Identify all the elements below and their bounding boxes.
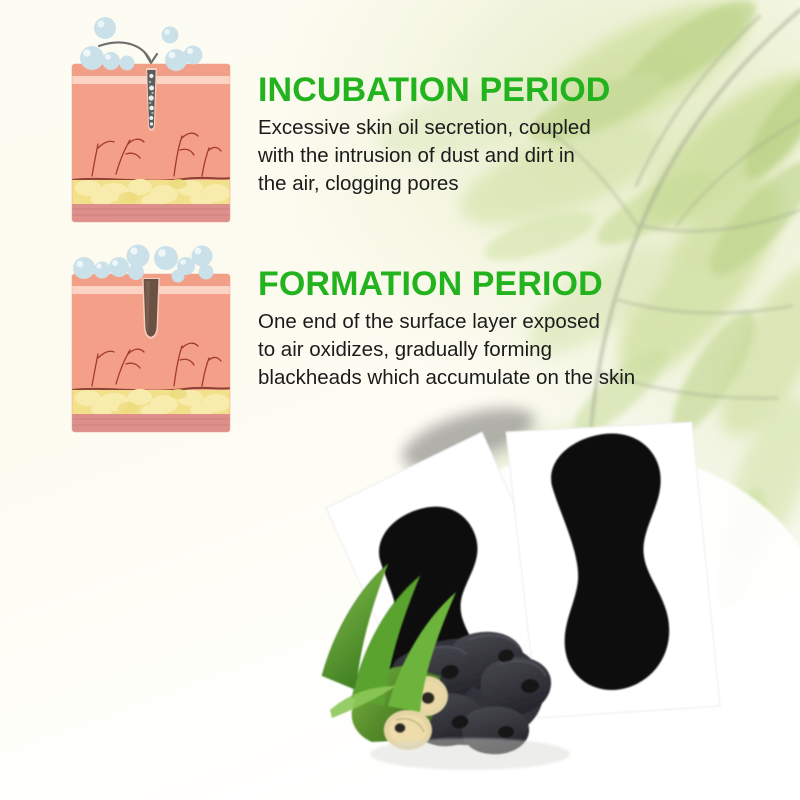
formation-body-line-1: One end of the surface layer exposed — [258, 308, 698, 336]
incubation-body-line-1: Excessive skin oil secretion, coupled — [258, 114, 658, 142]
formation-heading: FORMATION PERIOD — [258, 266, 698, 302]
formation-text-block: FORMATION PERIOD One end of the surface … — [258, 266, 698, 392]
skin-cross-section-blackhead-plug-diagram — [66, 234, 236, 438]
oil-bubbles-upper — [94, 17, 179, 44]
formation-body-line-2: to air oxidizes, gradually forming — [258, 336, 698, 364]
incubation-body: Excessive skin oil secretion, coupled wi… — [258, 114, 658, 198]
oxidized-blackhead-plug — [142, 278, 160, 339]
incubation-body-line-2: with the intrusion of dust and dirt in — [258, 142, 658, 170]
product-infographic-poster: INCUBATION PERIOD Excessive skin oil sec… — [0, 0, 800, 800]
formation-body-line-3: blackheads which accumulate on the skin — [258, 364, 698, 392]
incubation-body-line-3: the air, clogging pores — [258, 170, 658, 198]
charcoal-nose-strips-photo — [300, 410, 800, 800]
incubation-text-block: INCUBATION PERIOD Excessive skin oil sec… — [258, 72, 658, 198]
skin-cross-section-clogged-pore-diagram — [66, 8, 236, 230]
incubation-heading: INCUBATION PERIOD — [258, 72, 658, 108]
formation-body: One end of the surface layer exposed to … — [258, 308, 698, 392]
